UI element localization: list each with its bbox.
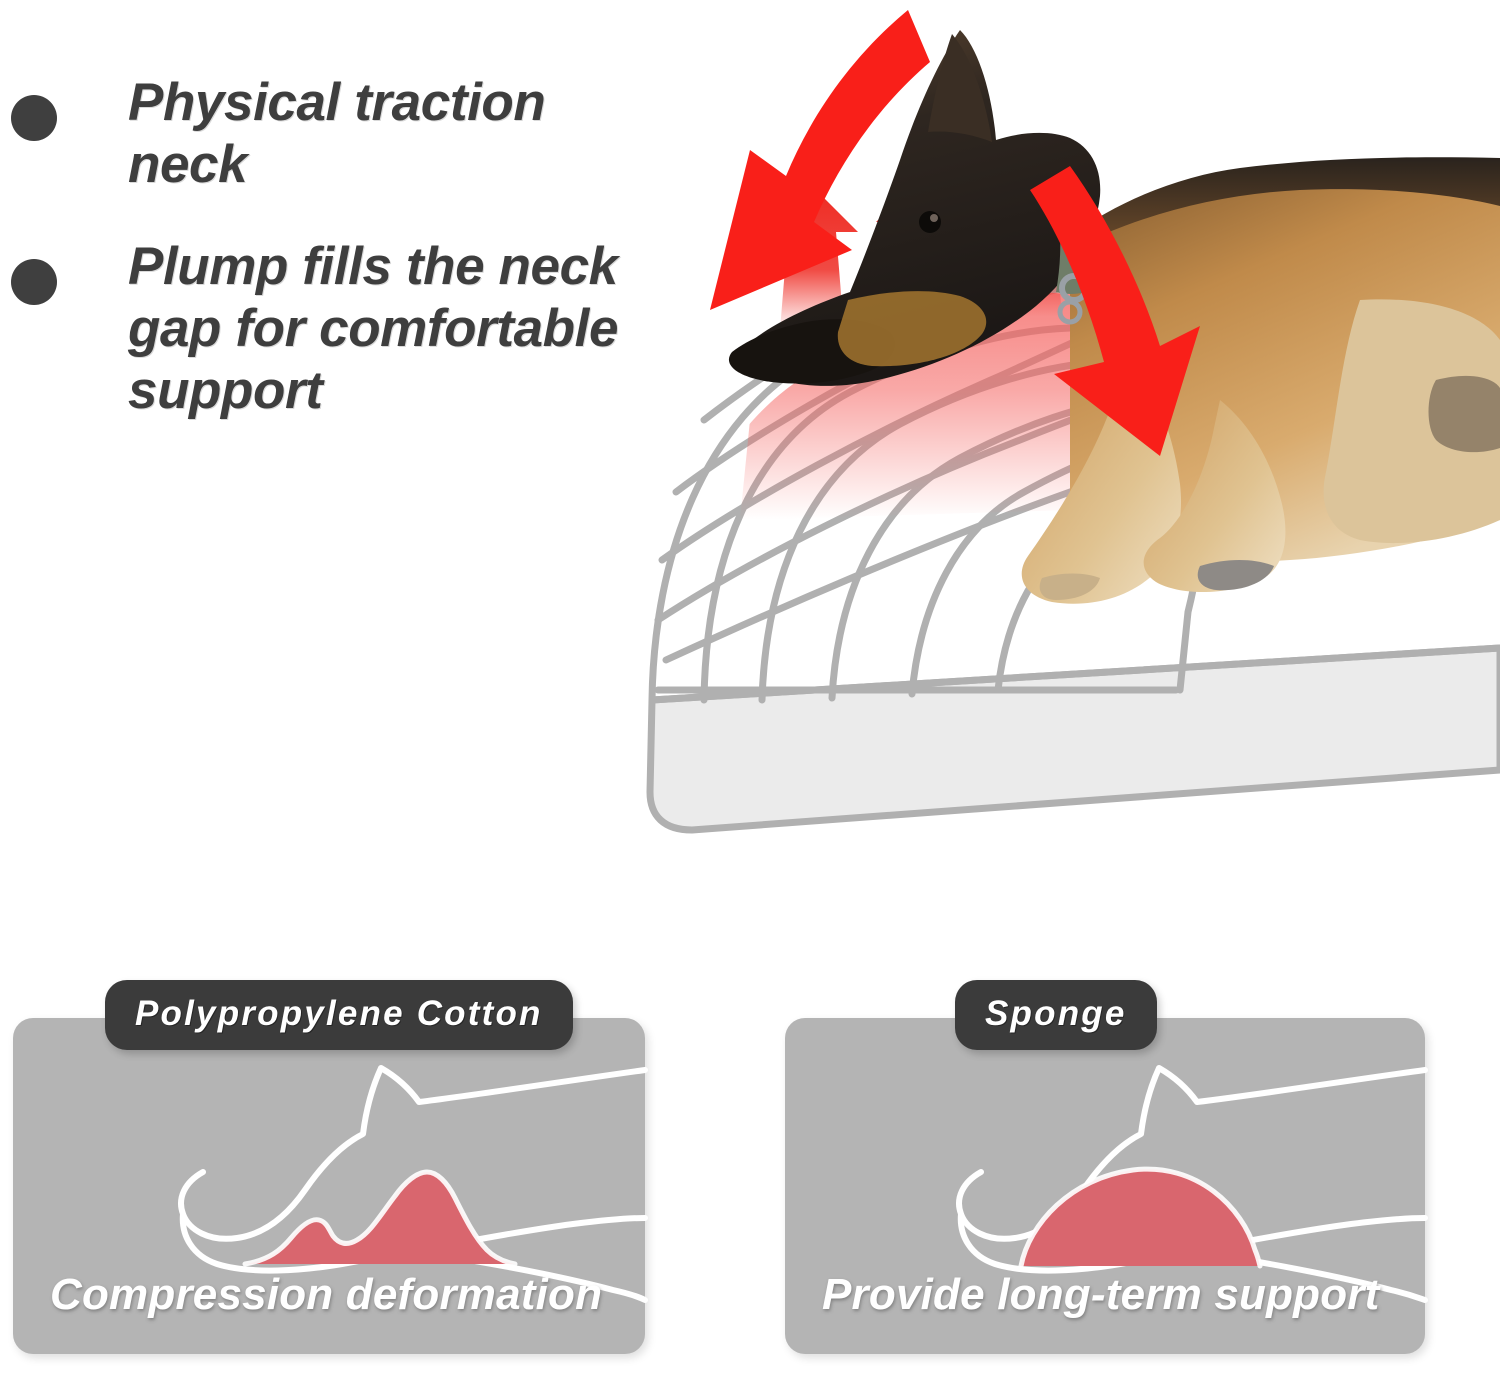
- feature-bullet-item: Physical traction neck: [0, 72, 640, 196]
- feature-bullet-text-2: Plump fills the neck gap for comfortable…: [128, 236, 640, 422]
- feature-bullet-text-1: Physical traction neck: [128, 72, 640, 196]
- bed-base: [650, 648, 1500, 830]
- panel-caption-long-term-support: Provide long-term support: [822, 1270, 1379, 1320]
- bullet-dot-icon: [11, 259, 57, 305]
- feature-bullet-item: Plump fills the neck gap for comfortable…: [0, 236, 640, 422]
- hero-illustration: [600, 0, 1500, 880]
- product-feature-graphic: Physical traction neck Plump fills the n…: [0, 0, 1500, 1382]
- material-badge-sponge: Sponge: [955, 980, 1157, 1050]
- material-comparison: Polypropylene Cotton Sponge Compression …: [0, 960, 1500, 1380]
- material-badge-polypropylene-cotton: Polypropylene Cotton: [105, 980, 573, 1050]
- panel-caption-compression-deformation: Compression deformation: [50, 1270, 602, 1320]
- feature-bullet-list: Physical traction neck Plump fills the n…: [0, 72, 640, 462]
- bullet-dot-icon: [11, 95, 57, 141]
